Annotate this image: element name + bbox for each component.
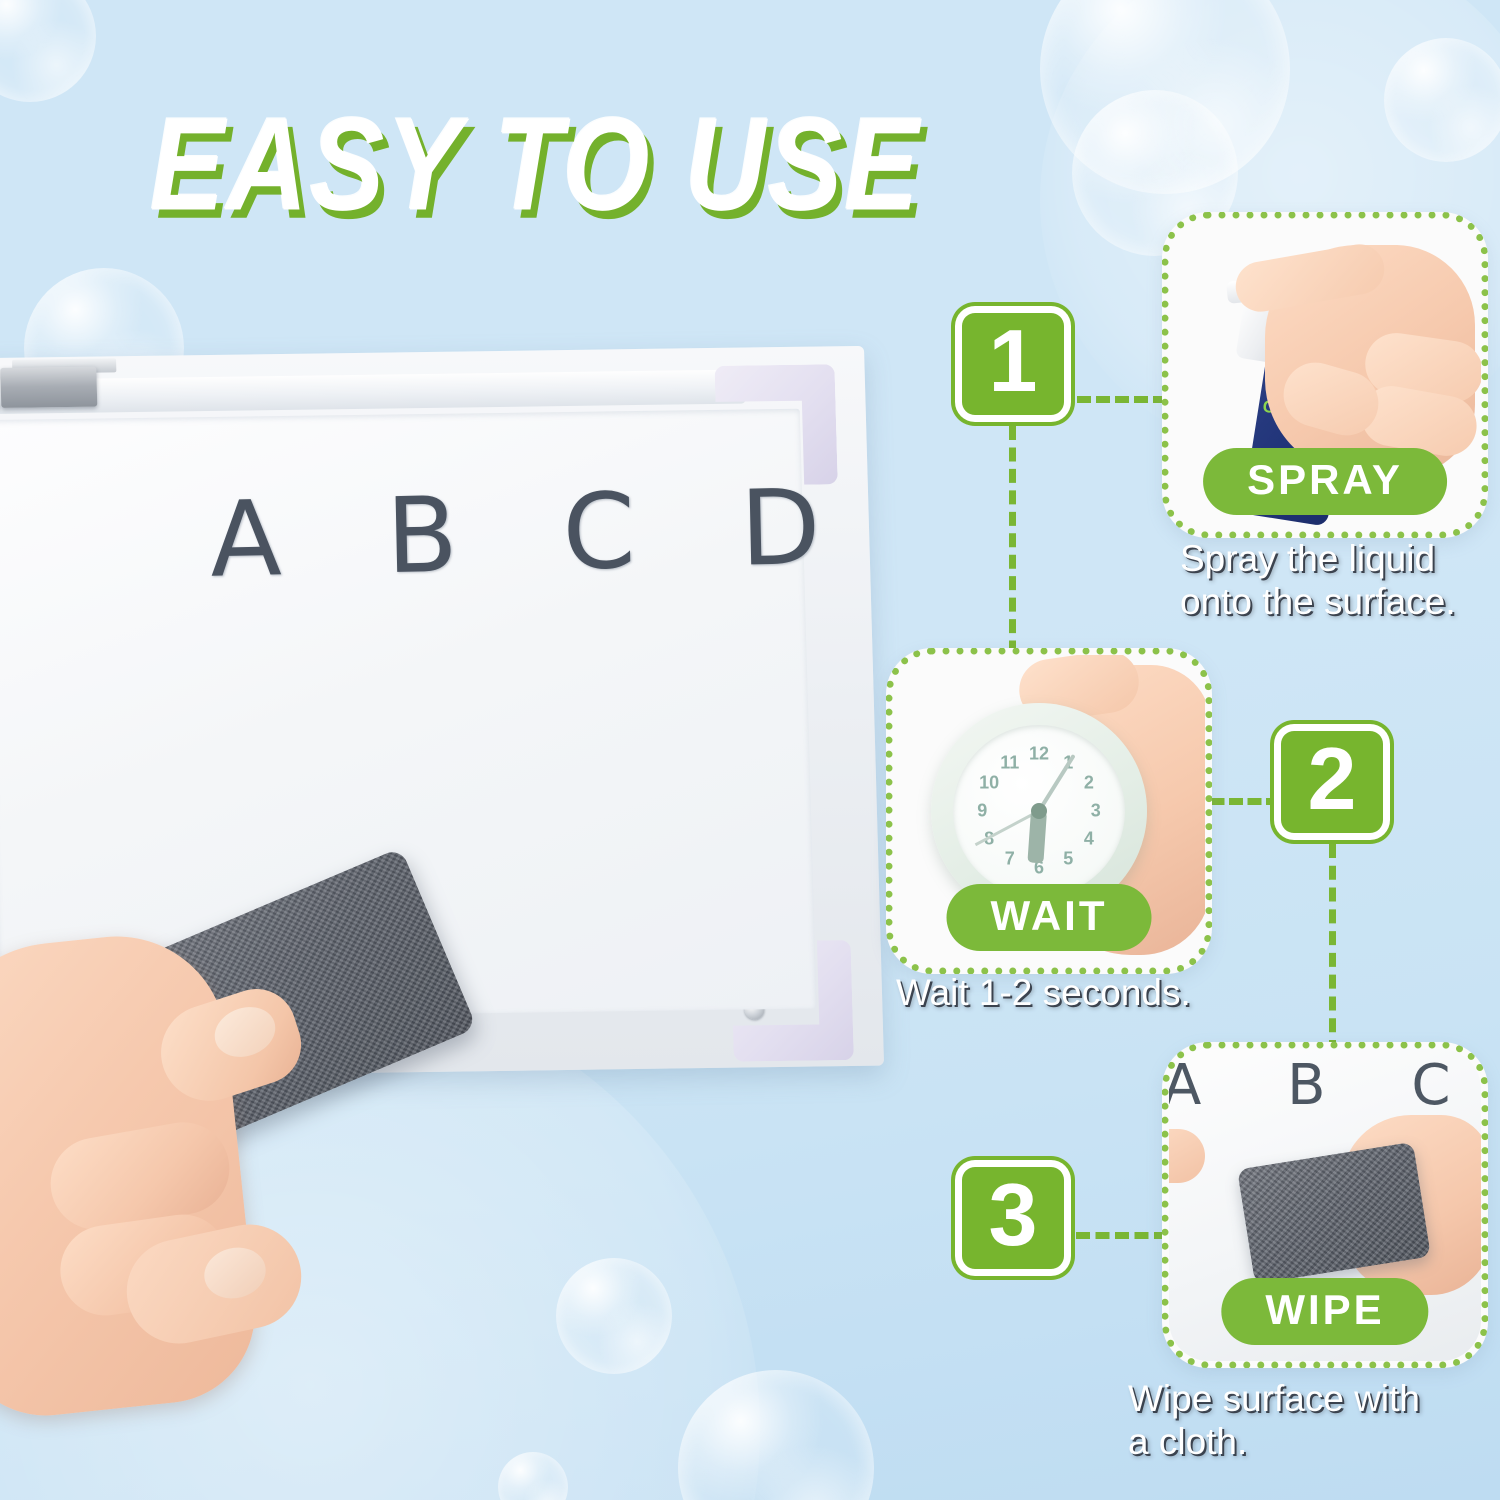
clock-center-pin (1031, 803, 1047, 819)
bubble-decoration (678, 1370, 874, 1500)
connector-step3-to-wipe (1076, 1232, 1168, 1239)
clock-numeral: 7 (1005, 849, 1015, 870)
wait-tag: WAIT (947, 884, 1152, 951)
clock-numeral: 3 (1091, 801, 1101, 822)
step-panel-wait[interactable]: 12 1 2 3 4 5 6 7 8 9 10 11 (886, 648, 1212, 974)
clock-numeral: 5 (1063, 849, 1073, 870)
step-badge-3-number: 3 (989, 1171, 1038, 1259)
clock-numeral: 11 (1000, 752, 1019, 773)
step-panel-spray[interactable]: WHITEBOARD CLEANER SPRAY (1162, 212, 1488, 538)
clock-numeral: 10 (979, 773, 999, 794)
wipe-board-letters: A B C D (1169, 1053, 1481, 1118)
hand-with-eraser (0, 880, 520, 1500)
bubble-decoration (1384, 38, 1500, 162)
step-badge-3[interactable]: 3 (955, 1160, 1071, 1276)
clock-face: 12 1 2 3 4 5 6 7 8 9 10 11 (953, 725, 1125, 897)
caption-spray: Spray the liquid onto the surface. (1180, 538, 1456, 624)
page-title: EASY TO USE (150, 88, 921, 240)
caption-wait: Wait 1-2 seconds. (896, 972, 1191, 1015)
bubble-decoration (0, 0, 96, 102)
connector-step2-to-wipe (1329, 844, 1336, 1054)
step-badge-1[interactable]: 1 (955, 306, 1071, 422)
wipe-tag: WIPE (1221, 1278, 1428, 1345)
step-badge-2[interactable]: 2 (1274, 724, 1390, 840)
step-badge-2-number: 2 (1308, 735, 1357, 823)
bubble-decoration (556, 1258, 672, 1374)
step-panel-wipe[interactable]: A B C D WIPE (1162, 1042, 1488, 1368)
whiteboard-hanger-clip (0, 367, 97, 408)
clock-numeral: 2 (1084, 773, 1094, 794)
clock-numeral: 4 (1084, 828, 1094, 849)
whiteboard-top-rail (0, 370, 746, 415)
bubble-decoration (1040, 0, 1290, 194)
caption-wipe: Wipe surface with a cloth. (1128, 1378, 1420, 1464)
connector-step1-to-spray (1077, 396, 1167, 403)
whiteboard-letters: A B C D (209, 465, 858, 601)
clock-numeral: 12 (1029, 744, 1049, 765)
connector-step1-to-wait (1009, 426, 1016, 676)
infographic-root: EASY TO USE A B C D (0, 0, 1500, 1500)
clock-numeral: 9 (977, 801, 987, 822)
step-badge-1-number: 1 (989, 317, 1038, 405)
spray-tag: SPRAY (1203, 448, 1447, 515)
